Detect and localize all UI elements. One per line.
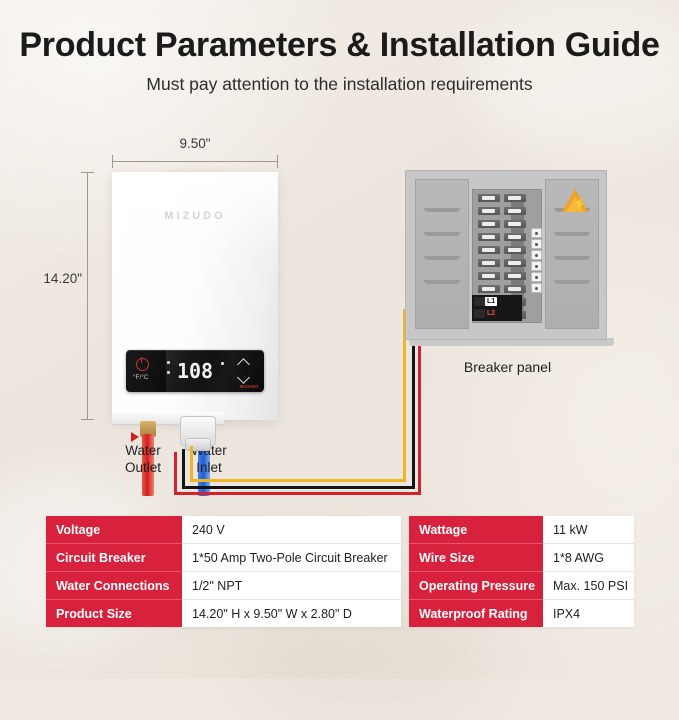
panel-vent [554,232,590,236]
spec-value: 240 V [182,516,401,544]
spec-row: Voltage240 V [46,516,401,544]
circuit-breaker-switch[interactable] [478,194,500,202]
breaker-panel-caption: Breaker panel [405,359,610,375]
spec-key: Wire Size [409,544,543,572]
spec-value: IPX4 [543,600,634,628]
circuit-breaker-switch[interactable] [478,233,500,241]
width-dimension-label: 9.50" [112,136,278,151]
panel-vent [424,208,460,212]
brand-logo: MIZUDO [112,210,278,222]
breaker-panel: L1 L2 ⚡ [405,170,610,342]
spec-row: Waterproof RatingIPX4 [409,600,634,628]
breaker-indicator [531,261,542,271]
circuit-breaker-switch[interactable] [504,272,526,280]
width-dimension-cap-right [277,155,278,168]
panel-vent [554,280,590,284]
spec-table-right: Wattage11 kWWire Size1*8 AWGOperating Pr… [409,516,634,627]
spec-key: Water Connections [46,572,182,600]
panel-vent [554,256,590,260]
circuit-breaker-switch[interactable] [478,220,500,228]
height-dimension-cap-bottom [81,419,94,420]
temperature-display: 108 [170,358,220,384]
circuit-breaker-switch[interactable] [504,285,526,293]
breaker-indicator-strip [531,228,540,290]
page-subtitle: Must pay attention to the installation r… [0,74,679,95]
panel-vent [424,232,460,236]
breaker-indicator [531,283,542,293]
lightning-bolt-icon: ⚡ [572,198,587,210]
infographic-page: Product Parameters & Installation Guide … [0,0,679,679]
spec-row: Product Size14.20" H x 9.50" W x 2.80" D [46,600,401,628]
header: Product Parameters & Installation Guide … [0,26,679,95]
circuit-breaker-switch[interactable] [504,220,526,228]
l1-cable-segment [182,449,185,487]
ground-cable-segment [190,479,406,482]
circuit-breaker-switch[interactable] [478,207,500,215]
spec-key: Product Size [46,600,182,628]
width-dimension-cap-left [112,155,113,168]
circuit-breaker-switch[interactable] [504,194,526,202]
spec-row: Wire Size1*8 AWG [409,544,634,572]
breaker-indicator [531,239,542,249]
spec-key: Circuit Breaker [46,544,182,572]
terminal-label-l1: L1 [485,297,497,306]
heater-front-cover: MIZUDO °F/°C 108 MIZUDO [112,172,278,420]
breaker-indicator [531,250,542,260]
spec-table-right-body: Wattage11 kWWire Size1*8 AWGOperating Pr… [409,516,634,627]
water-heater-unit: MIZUDO °F/°C 108 MIZUDO [112,172,278,420]
spec-value: 14.20" H x 9.50" W x 2.80" D [182,600,401,628]
l2-cable-segment [174,452,177,493]
spec-table-left: Voltage240 VCircuit Breaker1*50 Amp Two-… [46,516,401,627]
breaker-indicator [531,228,542,238]
height-dimension-cap-top [81,172,94,173]
breaker-panel-body: L1 L2 ⚡ [405,170,607,340]
spec-key: Voltage [46,516,182,544]
temperature-up-icon[interactable] [238,360,251,367]
panel-vent [424,280,460,284]
display-degree-dot [221,362,224,365]
breaker-panel-door-left[interactable] [415,179,469,329]
height-dimension-label: 14.20" [34,271,82,286]
water-outlet-label-line1: Water [110,443,176,460]
terminal-label-l2: L2 [485,309,497,318]
circuit-breaker-switch[interactable] [504,259,526,267]
circuit-breaker-switch[interactable] [478,285,500,293]
spec-key: Wattage [409,516,543,544]
water-outlet-label: Water Outlet [110,443,176,477]
power-button-icon[interactable] [136,358,149,371]
spec-row: Wattage11 kW [409,516,634,544]
spec-value: 1/2" NPT [182,572,401,600]
spec-table-left-body: Voltage240 VCircuit Breaker1*50 Amp Two-… [46,516,401,627]
temperature-down-icon[interactable] [238,375,251,382]
page-title: Product Parameters & Installation Guide [0,26,679,65]
height-dimension-line [87,172,88,420]
l2-cable-segment [418,330,421,495]
panel-vent [424,256,460,260]
spec-key: Operating Pressure [409,572,543,600]
conduit-gland-nut [185,438,211,451]
l1-cable-segment [182,486,415,489]
circuit-breaker-switch[interactable] [478,246,500,254]
ground-cable-segment [190,446,193,482]
circuit-breaker-switch[interactable] [504,207,526,215]
spec-value: 1*50 Amp Two-Pole Circuit Breaker [182,544,401,572]
control-panel[interactable]: °F/°C 108 MIZUDO [126,350,264,392]
width-dimension-line [112,161,278,162]
spec-value: 11 kW [543,516,634,544]
spec-value: Max. 150 PSI [543,572,634,600]
water-inlet-label-line2: Inlet [176,460,242,477]
water-outlet-label-line2: Outlet [110,460,176,477]
spec-row: Water Connections1/2" NPT [46,572,401,600]
spec-row: Circuit Breaker1*50 Amp Two-Pole Circuit… [46,544,401,572]
circuit-breaker-switch[interactable] [504,246,526,254]
l2-cable-segment [174,492,421,495]
temperature-value: 108 [177,361,213,381]
panel-brand-mark: MIZUDO [239,384,259,389]
outlet-arrow-icon [131,432,139,442]
spec-value: 1*8 AWG [543,544,634,572]
spec-row: Operating PressureMax. 150 PSI [409,572,634,600]
temperature-unit-toggle[interactable]: °F/°C [133,375,148,381]
spec-key: Waterproof Rating [409,600,543,628]
breaker-indicator [531,272,542,282]
circuit-breaker-switch[interactable] [478,272,500,280]
circuit-breaker-switch[interactable] [504,233,526,241]
circuit-breaker-switch[interactable] [478,259,500,267]
